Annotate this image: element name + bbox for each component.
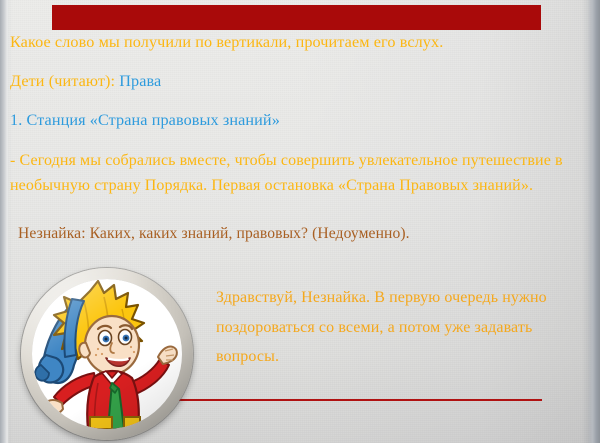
question-line: Какое слово мы получили по вертикали, пр… <box>10 32 585 53</box>
neznaika-character-icon <box>32 279 182 429</box>
red-divider-rule <box>172 399 542 401</box>
portrait-image-area <box>32 279 182 429</box>
title-banner <box>52 5 541 30</box>
slide-canvas: Какое слово мы получили по вертикали, пр… <box>0 0 600 443</box>
reply-text: Здравствуй, Незнайка. В первую очередь н… <box>216 283 576 372</box>
children-read-line: Дети (читают): Права <box>10 71 585 92</box>
neznaika-question-line: Незнайка: Каких, каких знаний, правовых?… <box>18 224 590 244</box>
children-read-answer: Права <box>119 72 161 90</box>
neznaika-portrait <box>21 268 193 440</box>
slide-left-edge <box>0 0 9 443</box>
intro-paragraph: - Сегодня мы собрались вместе, чтобы сов… <box>10 148 582 199</box>
station-heading: 1. Станция «Страна правовых знаний» <box>10 110 585 131</box>
children-read-prefix: Дети (читают): <box>10 72 119 90</box>
slide-right-edge <box>588 0 600 443</box>
